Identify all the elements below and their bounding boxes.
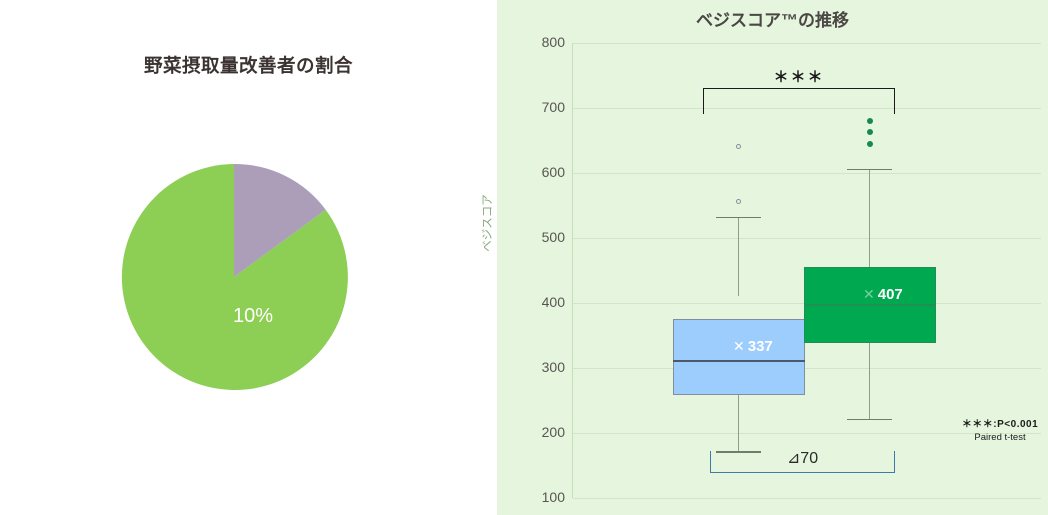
mean-marker-icon-week0: ✕ [733, 338, 745, 354]
mean-marker-icon-week3: ✕ [863, 286, 875, 302]
gridline-100 [573, 498, 1041, 499]
significance-bracket [703, 88, 895, 114]
outlier-week3-645 [867, 141, 873, 147]
pie-chart-panel: 野菜摂取量改善者の割合 10% 90% [0, 0, 497, 515]
box-week0 [673, 319, 805, 395]
footnote-significance-text: ＊＊＊:P<0.001 [952, 419, 1048, 432]
outlier-week0-640 [736, 144, 741, 149]
whisker-lower-week0 [738, 395, 739, 451]
y-tick-label-100: 100 [505, 489, 565, 505]
delta-label: ⊿70 [710, 448, 895, 468]
whisker-lower-week3 [869, 343, 870, 419]
mean-value-week3: 407 [878, 286, 903, 303]
y-tick-label-500: 500 [505, 229, 565, 245]
boxplot-footnote: ＊＊＊:P<0.001 Paired t-test [952, 419, 1048, 443]
gridline-800 [573, 43, 1041, 44]
boxplot-panel: ベジスコア™の推移 ベジスコア 800 700 600 500 400 300 … [497, 0, 1048, 515]
y-tick-label-800: 800 [505, 34, 565, 50]
pie-chart-title: 野菜摂取量改善者の割合 [0, 52, 497, 78]
whisker-cap-lower-week3 [847, 419, 892, 421]
footnote-test-name: Paired t-test [952, 432, 1048, 444]
pie-value-label-improved: 90% [196, 421, 284, 471]
outlier-week3-662 [867, 129, 873, 135]
gridline-300 [573, 368, 1041, 369]
whisker-upper-week0 [738, 217, 739, 296]
gridline-500 [573, 238, 1041, 239]
pie-value-label-unchanged: 10% [233, 305, 273, 328]
boxplot-title: ベジスコア™の推移 [497, 6, 1048, 31]
y-tick-label-400: 400 [505, 294, 565, 310]
y-tick-label-600: 600 [505, 164, 565, 180]
whisker-cap-upper-week0 [716, 217, 761, 219]
gridline-600 [573, 173, 1041, 174]
y-tick-label-700: 700 [505, 99, 565, 115]
pie-chart-graphic: 10% 90% [78, 121, 390, 433]
outlier-week0-555 [736, 199, 741, 204]
boxplot-y-axis-label: ベジスコア [479, 183, 495, 263]
mean-label-week0: ✕337 [733, 338, 773, 355]
y-tick-label-300: 300 [505, 359, 565, 375]
screenshot-root: 野菜摂取量改善者の割合 10% 90% ベジスコア™の推移 ベジスコア 800 … [0, 0, 1048, 515]
mean-value-week0: 337 [748, 338, 773, 355]
median-line-week3 [804, 304, 936, 306]
outlier-week3-680 [867, 118, 873, 124]
median-line-week0 [673, 360, 805, 362]
mean-label-week3: ✕407 [863, 286, 903, 303]
pie-svg [78, 121, 390, 433]
significance-stars: ＊＊＊ [703, 66, 895, 87]
y-tick-label-200: 200 [505, 424, 565, 440]
whisker-cap-upper-week3 [847, 169, 892, 171]
